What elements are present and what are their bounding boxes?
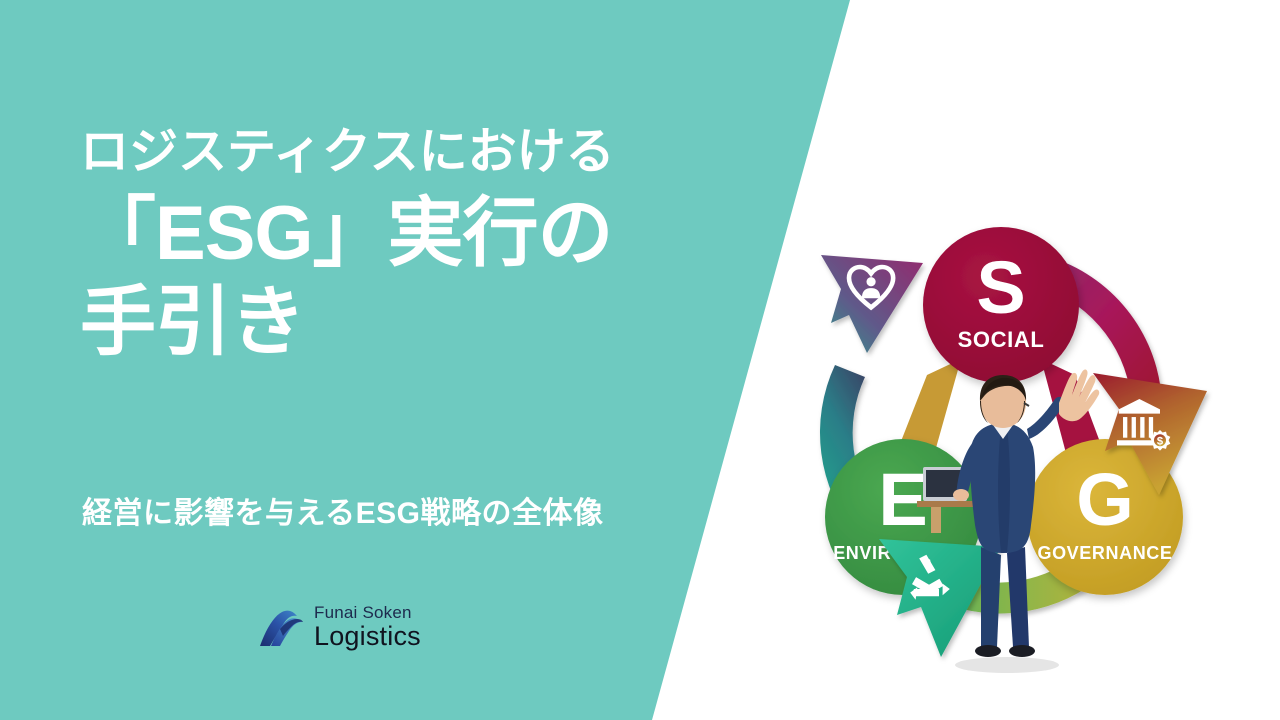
page-subtitle: 経営に影響を与えるESG戦略の全体像 [82, 488, 603, 532]
node-environment-letter: E [878, 458, 927, 541]
funai-soken-wave-icon [258, 605, 304, 649]
node-social-label: SOCIAL [958, 327, 1045, 352]
brand-logo: Funai Soken Logistics [258, 604, 421, 650]
node-social: S SOCIAL [923, 227, 1079, 383]
logo-wordmark: Funai Soken Logistics [314, 604, 421, 650]
headline-line-2: 「ESG」実行の [80, 193, 720, 274]
node-social-letter: S [976, 246, 1025, 329]
svg-text:$: $ [1157, 436, 1164, 448]
logo-bottom-text: Logistics [314, 623, 421, 650]
node-governance-label: GOVERNANCE [1037, 543, 1172, 563]
logo-top-text: Funai Soken [314, 604, 421, 621]
page-title: ロジスティクスにおける 「ESG」実行の 手引き [80, 128, 720, 364]
esg-cycle-diagram: S SOCIAL E ENVIRONMENT G GOVERNANCE [775, 195, 1225, 685]
node-governance-letter: G [1076, 458, 1134, 541]
slide-canvas: ロジスティクスにおける 「ESG」実行の 手引き 経営に影響を与えるESG戦略の… [0, 0, 1280, 720]
headline-line-3: 手引き [80, 282, 720, 363]
headline-line-1: ロジスティクスにおける [80, 128, 720, 177]
arrow-social [821, 255, 923, 353]
